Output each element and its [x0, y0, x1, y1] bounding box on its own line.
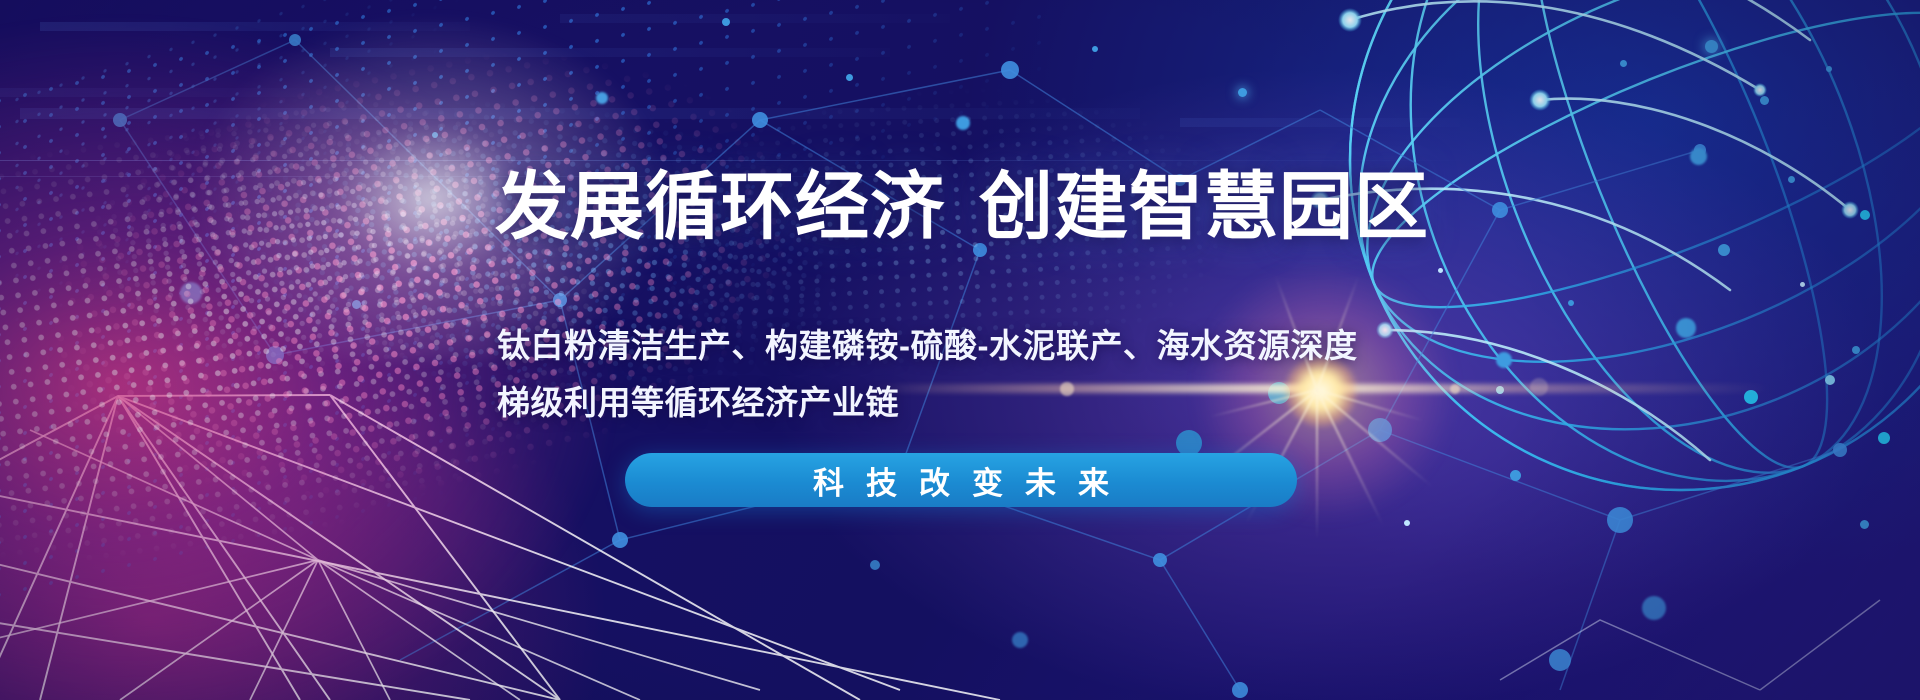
cta-button[interactable]: 科技改变未来 [625, 453, 1297, 507]
headline-part-1: 发展循环经济 [495, 165, 945, 248]
subtitle-line-1: 钛白粉清洁生产、构建磷铵-硫酸-水泥联产、海水资源深度 [497, 318, 1397, 375]
page-title: 发展循环经济创建智慧园区 [495, 168, 1429, 246]
hero-banner: 发展循环经济创建智慧园区 钛白粉清洁生产、构建磷铵-硫酸-水泥联产、海水资源深度… [0, 0, 1920, 700]
banner-content: 发展循环经济创建智慧园区 钛白粉清洁生产、构建磷铵-硫酸-水泥联产、海水资源深度… [0, 0, 1920, 700]
subtitle-line-2: 梯级利用等循环经济产业链 [497, 375, 1397, 432]
headline-part-2: 创建智慧园区 [979, 165, 1429, 248]
subtitle: 钛白粉清洁生产、构建磷铵-硫酸-水泥联产、海水资源深度 梯级利用等循环经济产业链 [497, 318, 1397, 432]
cta-button-label: 科技改变未来 [791, 458, 1131, 503]
